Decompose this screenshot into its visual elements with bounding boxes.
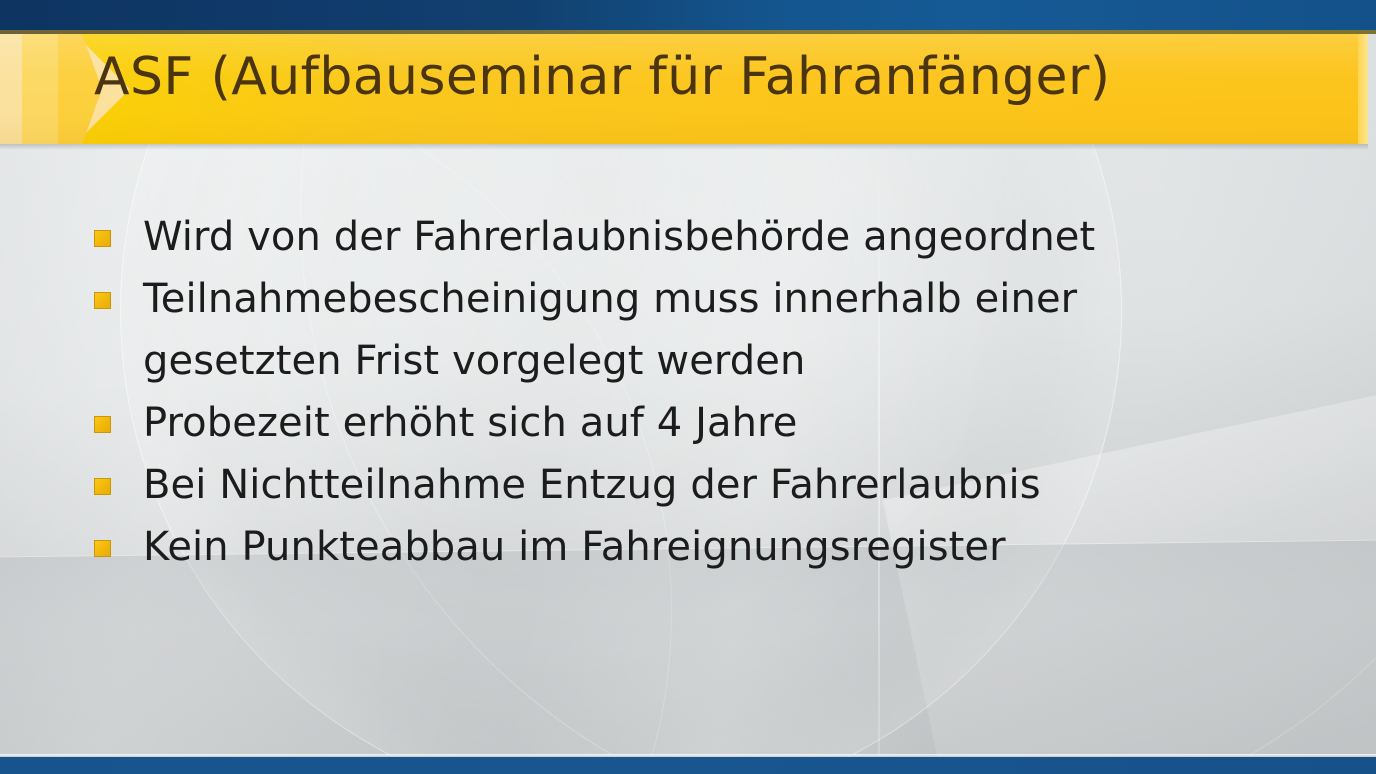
list-item-label: Wird von der Fahrerlaubnisbehörde angeor…	[143, 206, 1274, 268]
bullet-list: Wird von der Fahrerlaubnisbehörde angeor…	[94, 206, 1274, 578]
title-bar-shadow	[0, 144, 1368, 150]
square-bullet-icon	[94, 416, 111, 433]
list-item-label: Bei Nichtteilnahme Entzug der Fahrerlaub…	[143, 454, 1274, 516]
list-item-continuation: gesetzten Frist vorgelegt werden	[94, 330, 1274, 392]
list-item-label: Teilnahmebescheinigung muss innerhalb ei…	[143, 268, 1274, 330]
list-item-label: Kein Punkteabbau im Fahreignungsregister	[143, 516, 1274, 578]
square-bullet-icon	[94, 230, 111, 247]
bullet-placeholder	[94, 354, 111, 371]
square-bullet-icon	[94, 478, 111, 495]
list-item: Probezeit erhöht sich auf 4 Jahre	[94, 392, 1274, 454]
square-bullet-icon	[94, 292, 111, 309]
list-item: Wird von der Fahrerlaubnisbehörde angeor…	[94, 206, 1274, 268]
slide-title: ASF (Aufbauseminar für Fahranfänger)	[94, 46, 1344, 108]
square-bullet-icon	[94, 540, 111, 557]
list-item: Bei Nichtteilnahme Entzug der Fahrerlaub…	[94, 454, 1274, 516]
top-accent-band	[0, 0, 1376, 32]
title-bar-right-cap	[1358, 34, 1368, 144]
bottom-accent-band	[0, 757, 1376, 774]
list-item: Kein Punkteabbau im Fahreignungsregister	[94, 516, 1274, 578]
list-item: Teilnahmebescheinigung muss innerhalb ei…	[94, 268, 1274, 330]
list-item-label: Probezeit erhöht sich auf 4 Jahre	[143, 392, 1274, 454]
list-item-label: gesetzten Frist vorgelegt werden	[143, 330, 1274, 392]
slide: ASF (Aufbauseminar für Fahranfänger) Wir…	[0, 0, 1376, 774]
